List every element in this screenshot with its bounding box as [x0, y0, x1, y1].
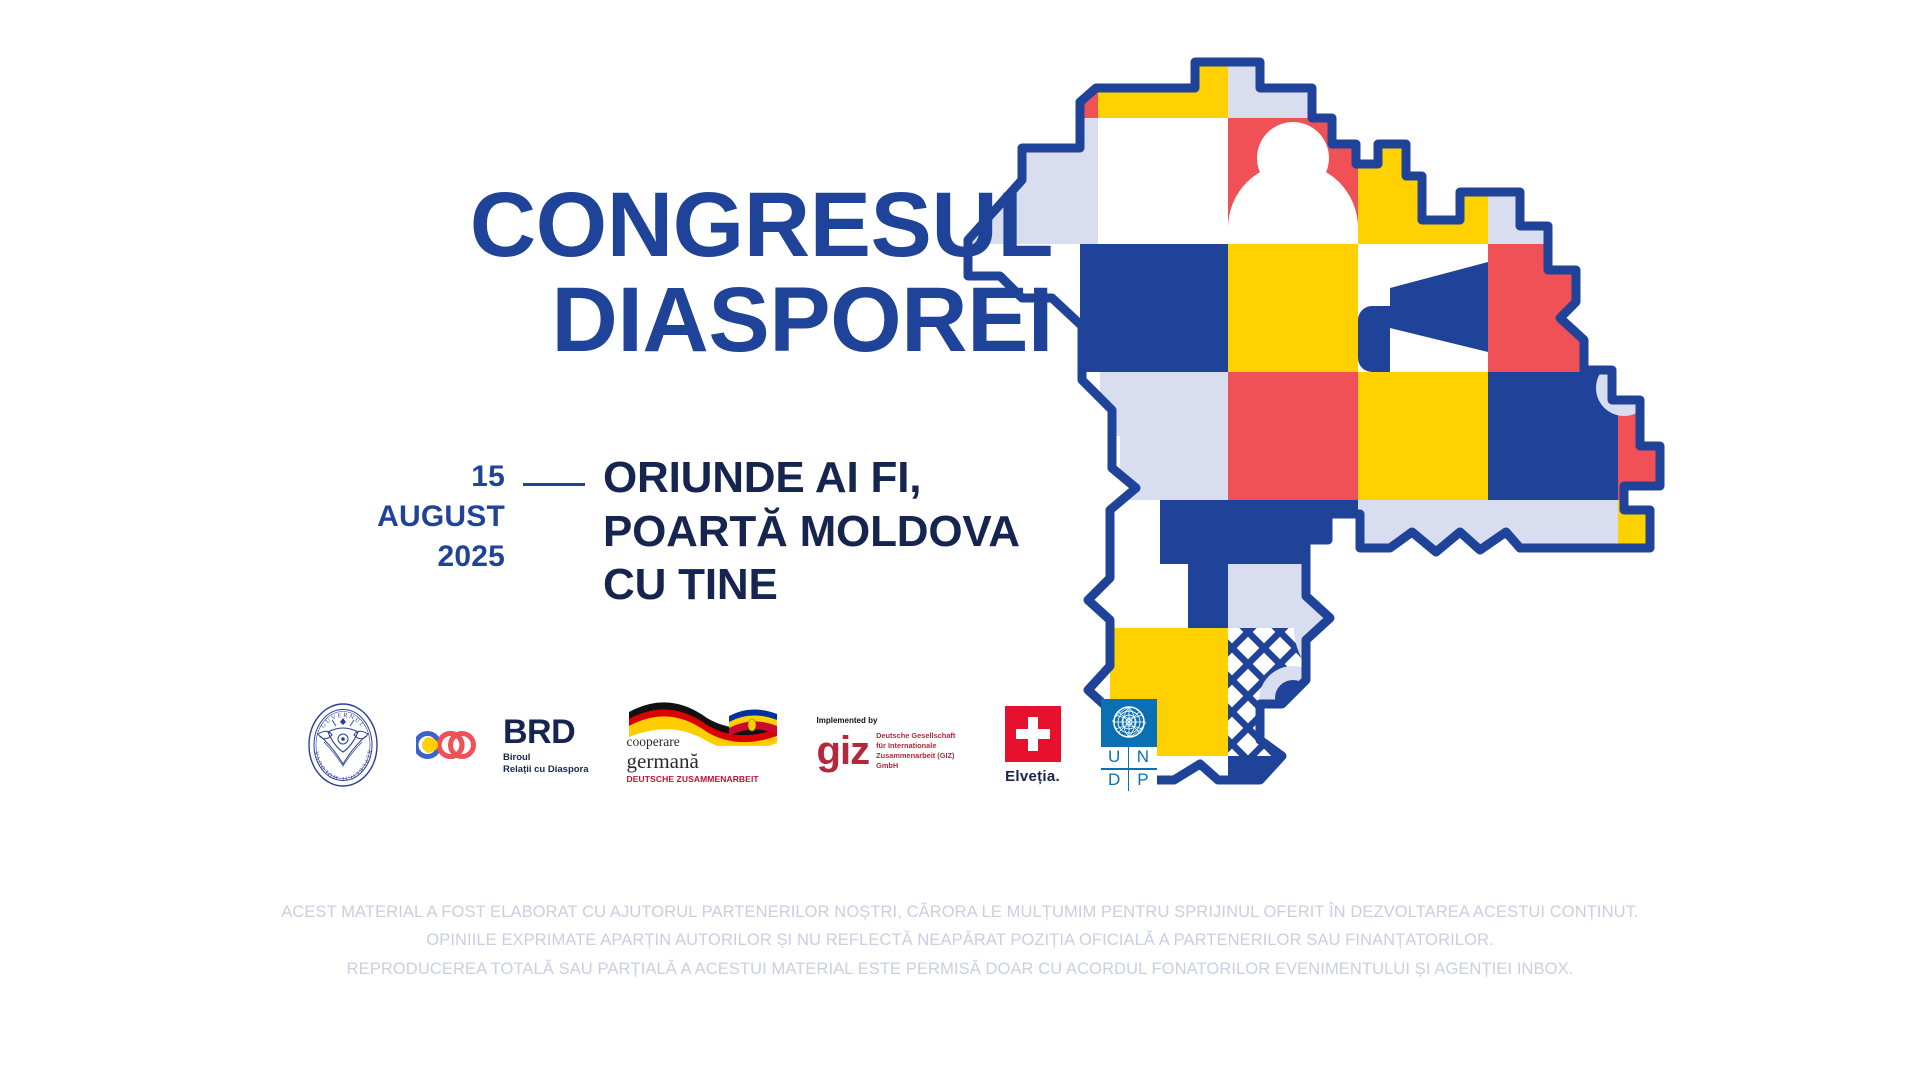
headline-line-2: DIASPOREI [0, 273, 1060, 368]
logo-undp[interactable]: U N D P [1101, 699, 1157, 791]
undp-letter-grid: U N D P [1101, 745, 1157, 791]
brd-acronym: BRD [503, 715, 589, 749]
logo-giz[interactable]: Implemented by giz Deutsche Gesellschaft… [817, 702, 965, 788]
event-tagline: ORIUNDE AI FI, POARTĂ MOLDOVA CU TINE [603, 451, 1020, 612]
logo-switzerland[interactable]: Elveția. [1001, 706, 1065, 785]
partner-logos-row: GUVERNUL REPUBLICII MOLDOVA BRD Biroul R… [306, 690, 1157, 800]
event-date: 15 AUGUST 2025 [330, 455, 505, 577]
brd-infinity-icon [416, 722, 494, 768]
giz-wordmark: giz [817, 734, 870, 768]
seal-bottom-text: REPUBLICII MOLDOVA [314, 750, 372, 781]
logo-brd[interactable]: BRD Biroul Relații cu Diaspora [416, 715, 589, 776]
poster-canvas: CONGRESUL DIASPOREI 15 AUGUST 2025 ORIUN… [0, 0, 1920, 1080]
giz-description: Deutsche Gesellschaft für Internationale… [876, 731, 964, 771]
event-date-year: 2025 [330, 537, 505, 577]
event-date-month: AUGUST [330, 497, 505, 537]
disclaimer-line-1: ACEST MATERIAL A FOST ELABORAT CU AJUTOR… [0, 898, 1920, 926]
german-coop-line-3: DEUTSCHE ZUSAMMENARBEIT [627, 775, 759, 784]
undp-letter-n: N [1129, 747, 1156, 768]
german-coop-line-1: cooperare [627, 735, 759, 749]
event-date-day: 15 [330, 457, 505, 497]
svg-text:REPUBLICII MOLDOVA: REPUBLICII MOLDOVA [314, 750, 372, 781]
logo-german-cooperation[interactable]: cooperare germană DEUTSCHE ZUSAMMENARBEI… [625, 702, 781, 788]
giz-implemented-by-label: Implemented by [817, 716, 965, 725]
switzerland-label: Elveția. [1001, 768, 1065, 785]
date-divider-rule [523, 483, 585, 486]
disclaimer-line-3: REPRODUCEREA TOTALĂ SAU PARȚIALĂ A ACEST… [0, 955, 1920, 983]
brd-subtitle: Biroul Relații cu Diaspora [503, 752, 589, 776]
un-emblem-icon [1101, 699, 1157, 745]
moldova-state-seal-icon: GUVERNUL REPUBLICII MOLDOVA [306, 702, 380, 788]
undp-letter-u: U [1101, 747, 1128, 768]
swiss-flag-icon [1005, 706, 1061, 762]
logo-government-of-moldova[interactable]: GUVERNUL REPUBLICII MOLDOVA [306, 702, 380, 788]
headline-line-1: CONGRESUL [0, 178, 1060, 273]
undp-letter-d: D [1101, 770, 1128, 791]
disclaimer-line-2: OPINIILE EXPRIMATE APARȚIN AUTORILOR ȘI … [0, 926, 1920, 954]
german-coop-line-2: germană [627, 750, 759, 772]
disclaimer-text: ACEST MATERIAL A FOST ELABORAT CU AJUTOR… [0, 898, 1920, 983]
event-meta-row: 15 AUGUST 2025 ORIUNDE AI FI, POARTĂ MOL… [330, 455, 1020, 612]
crescent-icon [1556, 592, 1644, 680]
poster-headline: CONGRESUL DIASPOREI [0, 178, 1060, 368]
undp-letter-p: P [1129, 770, 1156, 791]
bars-icon [1548, 510, 1616, 602]
